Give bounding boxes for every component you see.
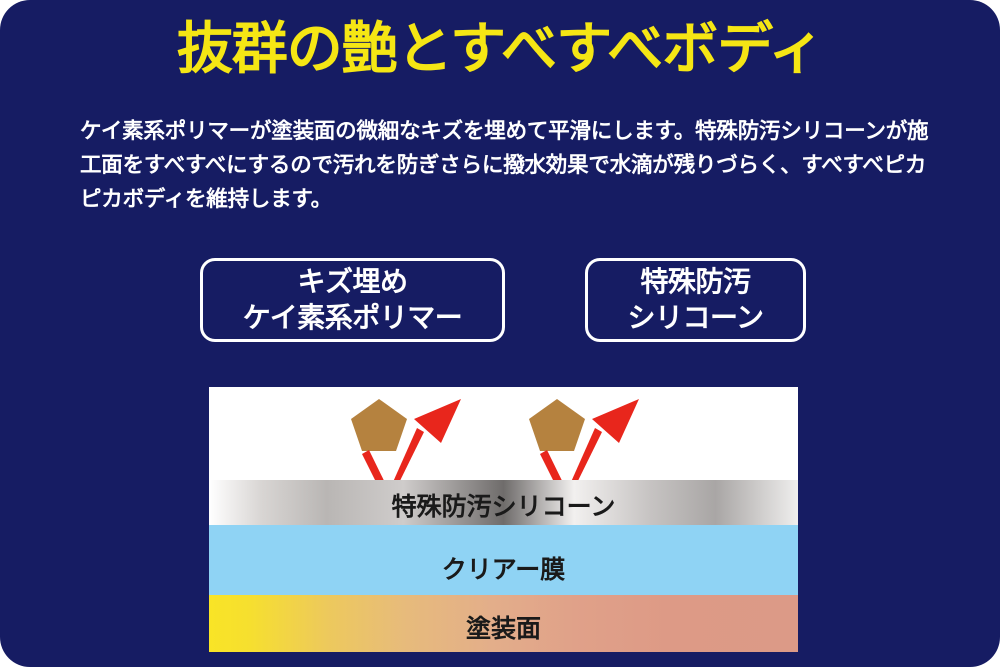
layer-label-clear: クリアー膜	[209, 550, 798, 586]
page-title: 抜群の艶とすべすべボディ	[0, 14, 1000, 84]
infographic-card: 抜群の艶とすべすべボディ ケイ素系ポリマーが塗装面の微細なキズを埋めて平滑にしま…	[0, 0, 1000, 667]
formula-row: キズ埋め ケイ素系ポリマー 特殊防汚 シリコーン	[0, 258, 1000, 342]
chip-polymer: キズ埋め ケイ素系ポリマー	[200, 258, 505, 342]
pentagon-soil-icon	[351, 399, 407, 451]
chip-silicone-line1: 特殊防汚	[640, 264, 750, 300]
chip-polymer-line1: キズ埋め	[297, 264, 407, 300]
pentagon-soil-icon	[529, 399, 585, 451]
coating-cross-section-diagram: 特殊防汚シリコーン クリアー膜 塗装面	[209, 387, 798, 652]
chip-silicone: 特殊防汚 シリコーン	[585, 258, 806, 342]
layer-label-silicone: 特殊防汚シリコーン	[209, 487, 798, 523]
description-text: ケイ素系ポリマーが塗装面の微細なキズを埋めて平滑にします。特殊防汚シリコーンが施…	[80, 114, 935, 216]
chip-polymer-line2: ケイ素系ポリマー	[243, 300, 462, 336]
layer-label-paint: 塗装面	[209, 609, 798, 645]
chip-silicone-line2: シリコーン	[627, 300, 763, 336]
